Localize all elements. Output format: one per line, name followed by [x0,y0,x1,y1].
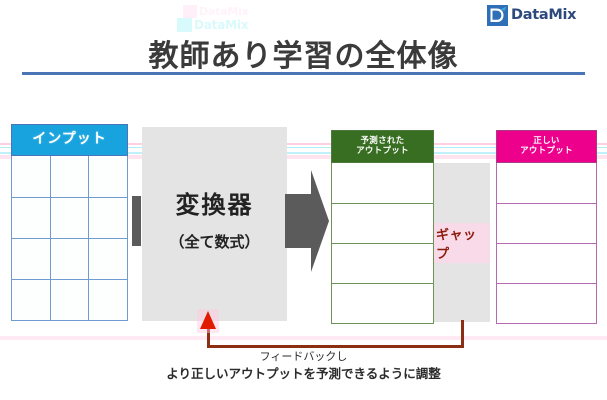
input-table-body [11,156,128,321]
table-row [12,238,127,279]
title-underline [22,72,585,75]
artifact-line-pink-3 [0,336,607,340]
table-row [497,243,596,283]
input-table: インプット [11,124,128,321]
correct-header-line1: 正しい [533,136,559,146]
table-row [332,283,433,323]
ghost-logo-mark-icon [183,5,197,18]
gap-box: ギャップ [434,163,490,322]
table-row [12,197,127,238]
table-cell [88,280,127,320]
predicted-header-line2: アウトプット [356,146,409,156]
feedback-caption: フィードバックし より正しいアウトプットを予測できるように調整 [0,349,607,383]
table-cell [50,239,89,279]
datamix-logo-icon [487,5,508,26]
correct-output-table-body [496,163,597,324]
slide-canvas: DataMix DataMix DataMix 教師あり学習の全体像 インプット [0,0,607,400]
feedback-line-vertical-right [461,320,464,348]
table-row [12,279,127,320]
table-cell [12,239,50,279]
table-cell [50,156,89,197]
page-title: 教師あり学習の全体像 [0,31,607,75]
table-cell [50,280,89,320]
ghost-logo-1: DataMix [183,4,283,18]
correct-output-table: 正しい アウトプット [496,130,597,324]
table-cell [50,198,89,238]
predicted-output-table: 予測された アウトプット [331,130,434,324]
brand-logo-label: DataMix [511,7,576,23]
brand-logo: DataMix [487,2,600,28]
input-table-header: インプット [11,124,128,156]
feedback-line-horizontal [207,345,463,348]
table-cell [12,156,50,197]
table-cell [12,198,50,238]
table-row [332,203,433,243]
table-row [497,163,596,203]
predicted-header-line1: 予測された [360,136,404,146]
transformer-label-main: 変換器 [142,185,287,220]
transformer-box: 変換器 （全て数式） [142,127,287,321]
predicted-output-table-header: 予測された アウトプット [331,130,434,163]
table-row [332,243,433,283]
table-row [332,163,433,203]
ghost-logo-label-2: DataMix [194,18,248,32]
table-cell [88,198,127,238]
transformer-label-sub: （全て数式） [142,231,287,252]
table-row [12,156,127,197]
table-cell [12,280,50,320]
table-cell [88,156,127,197]
feedback-caption-line2: より正しいアウトプットを予測できるように調整 [0,365,607,383]
table-cell [88,239,127,279]
table-row [497,283,596,323]
feedback-arrow-icon [200,311,216,329]
ghost-logo-mark-icon-2 [177,18,192,32]
gap-label: ギャップ [434,223,490,263]
right-arrow-icon [285,170,329,272]
table-row [497,203,596,243]
correct-output-table-header: 正しい アウトプット [496,130,597,163]
correct-header-line2: アウトプット [520,146,573,156]
ghost-logo-label: DataMix [199,5,249,18]
arrow-tail-bar-icon [132,196,141,246]
feedback-caption-line1: フィードバックし [0,349,607,365]
predicted-output-table-body [331,163,434,324]
